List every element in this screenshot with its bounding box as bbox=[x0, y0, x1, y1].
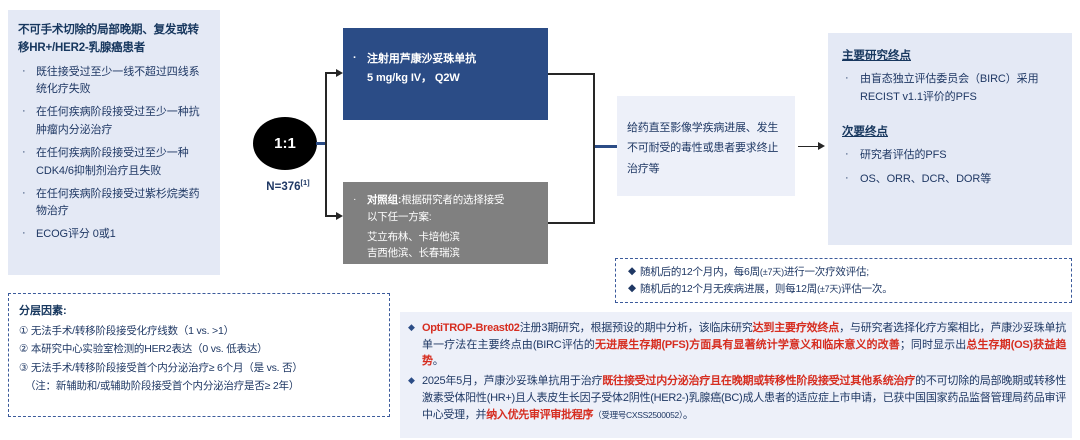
criterion-text: 在任何疾病阶段接受过紫杉烷类药物治疗 bbox=[36, 188, 200, 218]
treatment-arm-drug-name: 注射用芦康沙妥珠单抗 bbox=[367, 53, 476, 65]
connector-stub-to-duration bbox=[595, 145, 617, 148]
randomization-ratio-label: 1:1 bbox=[274, 135, 296, 152]
connector-from-control-arm bbox=[548, 222, 594, 224]
list-item: ·既往接受过至少一线不超过四线系统化疗失败 bbox=[18, 64, 210, 100]
stratification-factor: ① 无法手术/转移阶段接受化疗线数（1 vs. >1） bbox=[19, 322, 381, 340]
control-arm-line1: 根据研究者的选择接受 bbox=[401, 194, 504, 206]
control-arm-box: · 对照组:根据研究者的选择接受 以下任一方案: 艾立布林、卡培他滨 吉西他滨、… bbox=[343, 182, 548, 264]
criterion-text: ECOG评分 0或1 bbox=[36, 228, 116, 240]
treatment-duration-text: 给药直至影像学疾病进展、发生不可耐受的毒性或患者要求终止治疗等 bbox=[627, 122, 778, 175]
eligibility-title: 不可手术切除的局部晚期、复发或转移HR+/HER2-乳腺癌患者 bbox=[18, 22, 210, 58]
assessment-window: (±7天) bbox=[760, 267, 784, 277]
list-item: ·OS、ORR、DCR、DOR等 bbox=[842, 171, 1060, 189]
eligibility-criteria-list: ·既往接受过至少一线不超过四线系统化疗失败 ·在任何疾病阶段接受过至少一种抗肿瘤… bbox=[18, 64, 210, 244]
assessment-schedule-row: ◆随机后的12个月内，每6周(±7天)进行一次疗效评估; bbox=[626, 264, 1065, 281]
stratification-note: （注：新辅助和/或辅助阶段接受首个内分泌治疗是否≥ 2年） bbox=[19, 377, 381, 395]
diamond-bullet-icon: ◆ bbox=[628, 280, 636, 297]
control-arm-drugs-line1: 艾立布林、卡培他滨 bbox=[367, 231, 460, 243]
treatment-arm-drug-row: · 注射用芦康沙妥珠单抗 5 mg/kg IV， Q2W bbox=[353, 50, 538, 89]
assessment-text-pre: 随机后的12个月内，每6周 bbox=[640, 266, 760, 278]
sample-size-reference: [1] bbox=[301, 178, 310, 187]
stratification-factors-box: 分层因素: ① 无法手术/转移阶段接受化疗线数（1 vs. >1） ② 本研究中… bbox=[8, 293, 390, 417]
summary-seg: ；同时显示出 bbox=[900, 339, 967, 351]
summary-panel: ◆OptiTROP-Breast02注册3期研究，根据预设的期中分析，该临床研究… bbox=[400, 312, 1072, 438]
assessment-schedule-row: ◆随机后的12个月无疾病进展，则每12周(±7天)评估一次。 bbox=[626, 281, 1065, 298]
connector-vertical-merge bbox=[593, 73, 595, 224]
summary-highlight: 纳入优先审评审批程序 bbox=[486, 409, 593, 421]
list-item: ·由盲态独立评估委员会（BIRC）采用RECIST v1.1评价的PFS bbox=[842, 71, 1060, 107]
assessment-text-post: 评估一次。 bbox=[841, 283, 893, 295]
bullet-icon: · bbox=[845, 70, 849, 88]
summary-item-regulatory: ◆2025年5月，芦康沙妥珠单抗用于治疗既往接受过内分泌治疗且在晚期或转移性阶段… bbox=[408, 373, 1066, 423]
acceptance-number: （受理号CXSS2500052） bbox=[593, 410, 683, 420]
diamond-bullet-icon: ◆ bbox=[408, 321, 415, 335]
bullet-icon: · bbox=[845, 146, 849, 164]
connector-horizontal-to-control bbox=[325, 215, 336, 217]
connector-from-treatment-arm bbox=[548, 73, 594, 75]
randomization-ratio-node: 1:1 bbox=[253, 117, 317, 170]
assessment-text-pre: 随机后的12个月无疾病进展，则每12周 bbox=[640, 283, 817, 295]
secondary-endpoint-list: ·研究者评估的PFS ·OS、ORR、DCR、DOR等 bbox=[842, 147, 1060, 190]
stratification-factor: ③ 无法手术/转移阶段接受首个内分泌治疗≥ 6个月（是 vs. 否） bbox=[19, 359, 381, 377]
bullet-icon: · bbox=[22, 185, 26, 203]
list-item: ·在任何疾病阶段接受过至少一种抗肿瘤内分泌治疗 bbox=[18, 104, 210, 140]
list-item: ·ECOG评分 0或1 bbox=[18, 226, 210, 244]
study-name: OptiTROP-Breast02 bbox=[422, 322, 520, 334]
control-arm-line2: 以下任一方案: bbox=[367, 211, 432, 223]
connector-to-endpoints bbox=[798, 146, 818, 148]
connector-horizontal-to-treatment bbox=[325, 72, 336, 74]
randomization-sample-size: N=376[1] bbox=[253, 178, 323, 193]
secondary-endpoint-text: OS、ORR、DCR、DOR等 bbox=[860, 173, 991, 185]
summary-seg: 注册3期研究，根据预设的期中分析，该临床研究 bbox=[520, 322, 753, 334]
assessment-schedule-box: ◆随机后的12个月内，每6周(±7天)进行一次疗效评估; ◆随机后的12个月无疾… bbox=[615, 258, 1072, 303]
bullet-icon: · bbox=[22, 63, 26, 81]
criterion-text: 既往接受过至少一线不超过四线系统化疗失败 bbox=[36, 66, 200, 96]
assessment-text-post: 进行一次疗效评估; bbox=[784, 266, 869, 278]
summary-seg: 2025年5月，芦康沙妥珠单抗用于治疗 bbox=[422, 375, 602, 387]
treatment-arm-dose: 5 mg/kg IV， Q2W bbox=[367, 72, 460, 84]
treatment-duration-box: 给药直至影像学疾病进展、发生不可耐受的毒性或患者要求终止治疗等 bbox=[617, 96, 795, 196]
summary-highlight: 无进展生存期(PFS)方面具有显著统计学意义和临床意义的改善 bbox=[595, 339, 900, 351]
summary-highlight: 达到主要疗效终点 bbox=[753, 322, 839, 334]
control-arm-description-row: · 对照组:根据研究者的选择接受 以下任一方案: bbox=[353, 192, 538, 226]
arrow-to-endpoints bbox=[818, 142, 825, 150]
summary-highlight: 既往接受过内分泌治疗且在晚期或转移性阶段接受过其他系统治疗 bbox=[602, 375, 915, 387]
secondary-endpoint-text: 研究者评估的PFS bbox=[860, 149, 947, 161]
criterion-text: 在任何疾病阶段接受过至少一种CDK4/6抑制剂治疗且失败 bbox=[36, 147, 189, 177]
control-arm-drug-options: 艾立布林、卡培他滨 吉西他滨、长春瑞滨 bbox=[353, 229, 538, 262]
control-arm-label: 对照组: bbox=[367, 194, 401, 206]
bullet-icon: · bbox=[22, 103, 26, 121]
list-item: ·在任何疾病阶段接受过紫杉烷类药物治疗 bbox=[18, 186, 210, 222]
eligibility-panel: 不可手术切除的局部晚期、复发或转移HR+/HER2-乳腺癌患者 ·既往接受过至少… bbox=[8, 10, 220, 275]
primary-endpoint-list: ·由盲态独立评估委员会（BIRC）采用RECIST v1.1评价的PFS bbox=[842, 71, 1060, 107]
summary-seg: 。 bbox=[683, 409, 694, 421]
assessment-window: (±7天) bbox=[817, 284, 841, 294]
bullet-icon: · bbox=[845, 170, 849, 188]
bullet-icon: · bbox=[353, 49, 357, 68]
control-arm-drugs-line2: 吉西他滨、长春瑞滨 bbox=[367, 247, 460, 259]
bullet-icon: · bbox=[22, 225, 26, 243]
bullet-icon: · bbox=[22, 144, 26, 162]
secondary-endpoint-heading: 次要终点 bbox=[842, 123, 1060, 139]
list-item: ·在任何疾病阶段接受过至少一种CDK4/6抑制剂治疗且失败 bbox=[18, 145, 210, 181]
sample-size-value: N=376 bbox=[266, 181, 300, 193]
arrow-to-control-arm bbox=[336, 212, 343, 220]
stratification-title: 分层因素: bbox=[19, 302, 381, 318]
summary-seg: 。 bbox=[433, 355, 444, 367]
criterion-text: 在任何疾病阶段接受过至少一种抗肿瘤内分泌治疗 bbox=[36, 106, 200, 136]
primary-endpoint-text: 由盲态独立评估委员会（BIRC）采用RECIST v1.1评价的PFS bbox=[860, 73, 1038, 103]
bullet-icon: · bbox=[353, 191, 356, 208]
connector-vertical-split bbox=[325, 72, 327, 216]
endpoints-panel: 主要研究终点 ·由盲态独立评估委员会（BIRC）采用RECIST v1.1评价的… bbox=[828, 33, 1072, 245]
diamond-bullet-icon: ◆ bbox=[408, 374, 415, 388]
primary-endpoint-heading: 主要研究终点 bbox=[842, 47, 1060, 63]
arrow-to-treatment-arm bbox=[336, 69, 343, 77]
summary-item-efficacy: ◆OptiTROP-Breast02注册3期研究，根据预设的期中分析，该临床研究… bbox=[408, 320, 1066, 370]
diamond-bullet-icon: ◆ bbox=[628, 263, 636, 280]
list-item: ·研究者评估的PFS bbox=[842, 147, 1060, 165]
treatment-arm-box: · 注射用芦康沙妥珠单抗 5 mg/kg IV， Q2W bbox=[343, 28, 548, 120]
stratification-factor: ② 本研究中心实验室检测的HER2表达（0 vs. 低表达） bbox=[19, 340, 381, 358]
